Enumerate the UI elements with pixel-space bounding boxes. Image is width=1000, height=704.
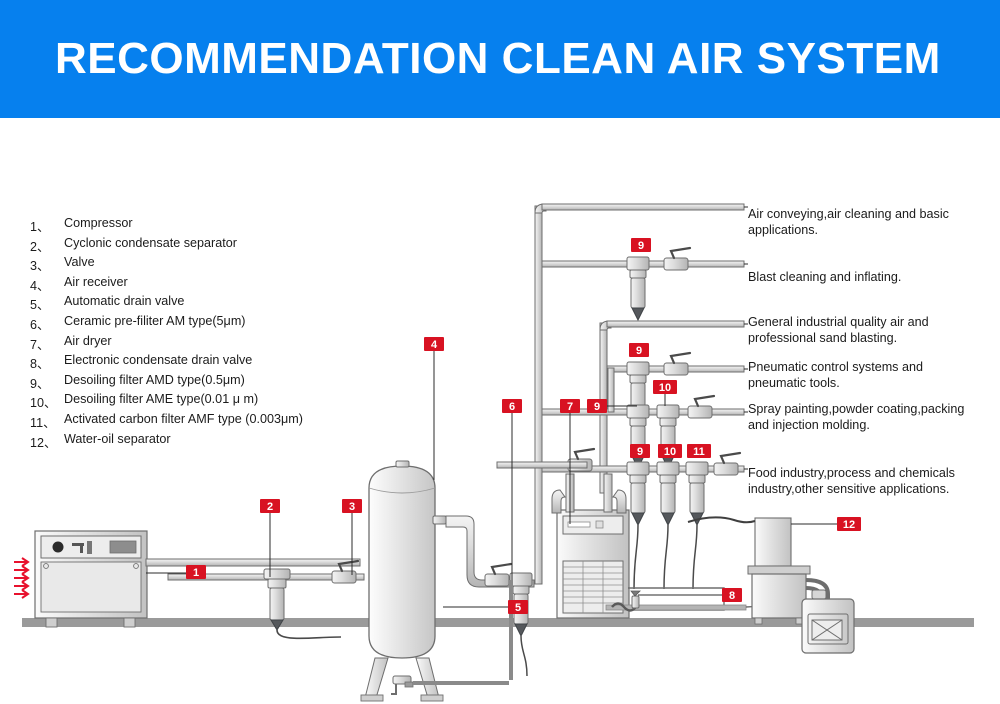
callout-label: 9 (636, 345, 642, 357)
callout-label: 6 (509, 401, 515, 413)
callout-label: 10 (659, 382, 671, 394)
callout-label: 1 (193, 567, 199, 579)
callout-10b: 10 (658, 444, 682, 458)
callout-2: 2 (260, 499, 280, 513)
pipe-branch-1 (542, 204, 744, 210)
desoiling-filter-9a (627, 257, 649, 320)
callout-label: 9 (637, 446, 643, 458)
clean-air-system-schematic: 1 2 3 4 5 6 7 8 9 9 (0, 118, 1000, 704)
callout-11: 11 (687, 444, 711, 458)
callout-label: 7 (567, 401, 573, 413)
automatic-drain-valve-unit (391, 676, 413, 694)
compressor-knob-icon (53, 542, 64, 553)
drain-line-5 (413, 681, 509, 685)
callout-label: 9 (594, 401, 600, 413)
callout-label: 8 (729, 590, 735, 602)
desoiling-filter-9d (627, 462, 649, 589)
page-title: RECOMMENDATION CLEAN AIR SYSTEM (55, 34, 941, 84)
pipe-dryer-inlet (497, 462, 587, 468)
desoiling-filter-10b (657, 462, 679, 589)
drain-riser-6 (509, 580, 513, 680)
callout-label: 2 (267, 501, 273, 513)
callout-4: 4 (424, 337, 444, 351)
callout-7: 7 (560, 399, 580, 413)
pipe-dryer-feed (608, 368, 614, 412)
pipe-branch-3 (607, 321, 744, 327)
dryer-display-icon (568, 522, 590, 527)
callout-5: 5 (508, 600, 528, 614)
air-intake-arrows-icon (14, 558, 28, 598)
callout-9c: 9 (587, 399, 607, 413)
pipe-compressor-outlet (146, 559, 360, 566)
compressor-unit (14, 531, 147, 627)
collection-can (802, 590, 854, 653)
callout-1: 1 (186, 565, 206, 579)
callout-9b: 9 (629, 343, 649, 357)
separator-chimney (755, 518, 791, 566)
valve-unit-branch-2[interactable] (664, 248, 690, 270)
water-oil-separator-unit (688, 517, 854, 653)
callout-9d: 9 (630, 444, 650, 458)
callout-9a: 9 (631, 238, 651, 252)
diagram-stage: 1、 Compressor 2、 Cyclonic condensate sep… (0, 118, 1000, 704)
desoiling-filter-9c (627, 405, 649, 468)
valve-unit-inline[interactable] (485, 564, 511, 586)
callout-label: 4 (431, 339, 438, 351)
callout-label: 3 (349, 501, 355, 513)
valve-unit-branch-5[interactable] (688, 396, 714, 418)
callout-label: 9 (638, 240, 644, 252)
desoiling-filter-10a (657, 405, 679, 468)
pipe-main-riser (535, 206, 542, 584)
valve-unit-branch-4[interactable] (664, 353, 690, 375)
callout-label: 12 (843, 519, 855, 531)
callout-12: 12 (837, 517, 861, 531)
callout-10a: 10 (653, 380, 677, 394)
callout-label: 10 (664, 446, 676, 458)
callout-label: 11 (693, 446, 705, 458)
page-banner: RECOMMENDATION CLEAN AIR SYSTEM (0, 0, 1000, 118)
callout-3: 3 (342, 499, 362, 513)
callout-6: 6 (502, 399, 522, 413)
callout-label: 5 (515, 602, 521, 614)
activated-carbon-filter-11 (686, 462, 708, 589)
callout-8: 8 (722, 588, 742, 602)
air-dryer-unit (552, 474, 629, 618)
valve-unit-branch-6[interactable] (714, 453, 740, 475)
